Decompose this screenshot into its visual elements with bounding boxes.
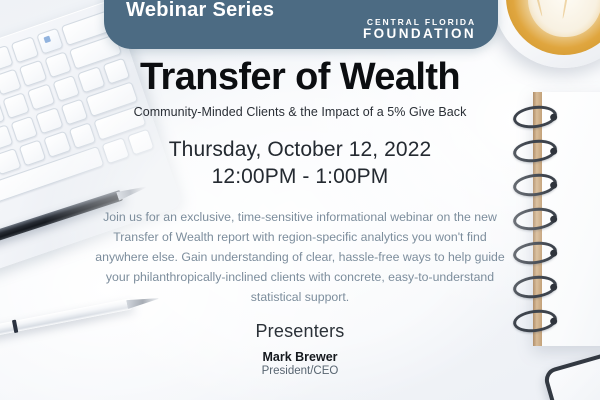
latte-art [528, 0, 600, 37]
presenters-heading: Presenters [0, 321, 600, 342]
coffee-crema [506, 0, 600, 55]
page-subtitle: Community-Minded Clients & the Impact of… [0, 105, 600, 119]
webinar-flyer: Webinar Series CENTRAL FLORIDA FOUNDATIO… [0, 0, 600, 400]
header-banner: Webinar Series CENTRAL FLORIDA FOUNDATIO… [104, 0, 498, 49]
presenter-name: Mark Brewer [0, 350, 600, 364]
event-time: 12:00PM - 1:00PM [0, 165, 600, 189]
central-florida-foundation-logo: CENTRAL FLORIDA FOUNDATION [363, 18, 476, 42]
event-date: Thursday, October 12, 2022 [0, 138, 600, 162]
banner-title: Webinar Series [126, 0, 274, 42]
flyer-content: Transfer of Wealth Community-Minded Clie… [0, 58, 600, 377]
page-title: Transfer of Wealth [0, 58, 600, 98]
logo-line-2: FOUNDATION [363, 27, 476, 41]
event-description: Join us for an exclusive, time-sensitive… [91, 208, 509, 308]
presenter-role: President/CEO [0, 365, 600, 377]
